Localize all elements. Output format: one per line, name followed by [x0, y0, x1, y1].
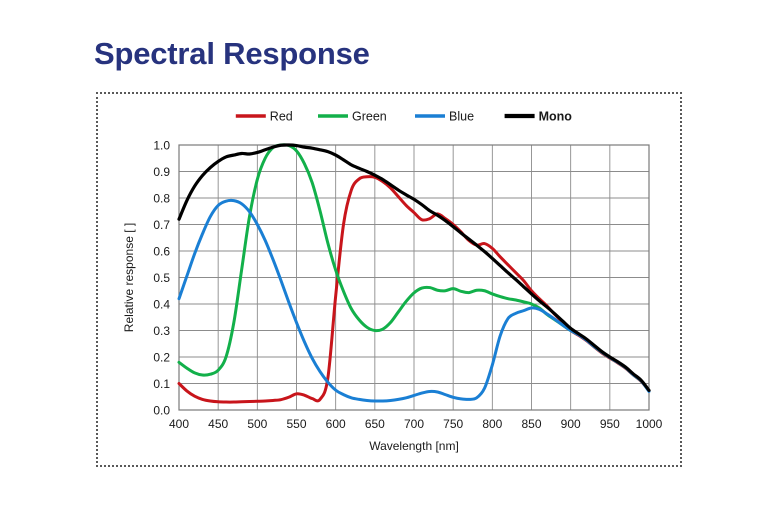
page-title: Spectral Response [94, 36, 370, 72]
y-tick-label: 1.0 [153, 139, 170, 153]
x-tick-label: 400 [169, 417, 189, 431]
legend-label-mono: Mono [539, 110, 573, 124]
x-tick-label: 1000 [636, 417, 663, 431]
slide-canvas: Spectral Response RedGreenBlueMono 40045… [0, 0, 760, 509]
y-tick-label: 0.9 [153, 165, 170, 179]
y-tick-label: 0.7 [153, 218, 170, 232]
y-axis-title: Relative response [ ] [122, 223, 136, 332]
legend-label-blue: Blue [449, 110, 474, 124]
x-tick-label: 600 [326, 417, 346, 431]
x-tick-labels: 4004505005506006507007508008509009501000 [169, 417, 663, 431]
x-tick-label: 800 [482, 417, 502, 431]
y-tick-label: 0.0 [153, 404, 170, 418]
x-tick-label: 950 [600, 417, 620, 431]
legend: RedGreenBlueMono [236, 110, 572, 124]
x-tick-label: 750 [443, 417, 463, 431]
y-tick-label: 0.5 [153, 271, 170, 285]
x-tick-label: 900 [561, 417, 581, 431]
x-axis-title: Wavelength [nm] [369, 439, 459, 453]
y-tick-label: 0.4 [153, 298, 170, 312]
x-tick-label: 550 [286, 417, 306, 431]
grid-lines [179, 145, 649, 410]
x-tick-label: 650 [365, 417, 385, 431]
y-tick-label: 0.3 [153, 324, 170, 338]
x-tick-label: 450 [208, 417, 228, 431]
y-tick-label: 0.2 [153, 351, 170, 365]
figure-frame: RedGreenBlueMono 40045050055060065070075… [96, 92, 682, 467]
legend-label-green: Green [352, 110, 387, 124]
y-tick-label: 0.1 [153, 377, 170, 391]
x-tick-label: 850 [521, 417, 541, 431]
y-tick-labels: 0.00.10.20.30.40.50.60.70.80.91.0 [153, 139, 170, 418]
x-tick-label: 700 [404, 417, 424, 431]
legend-label-red: Red [270, 110, 293, 124]
y-tick-label: 0.6 [153, 245, 170, 259]
y-tick-label: 0.8 [153, 192, 170, 206]
spectral-response-chart: RedGreenBlueMono 40045050055060065070075… [98, 94, 680, 465]
x-tick-label: 500 [247, 417, 267, 431]
